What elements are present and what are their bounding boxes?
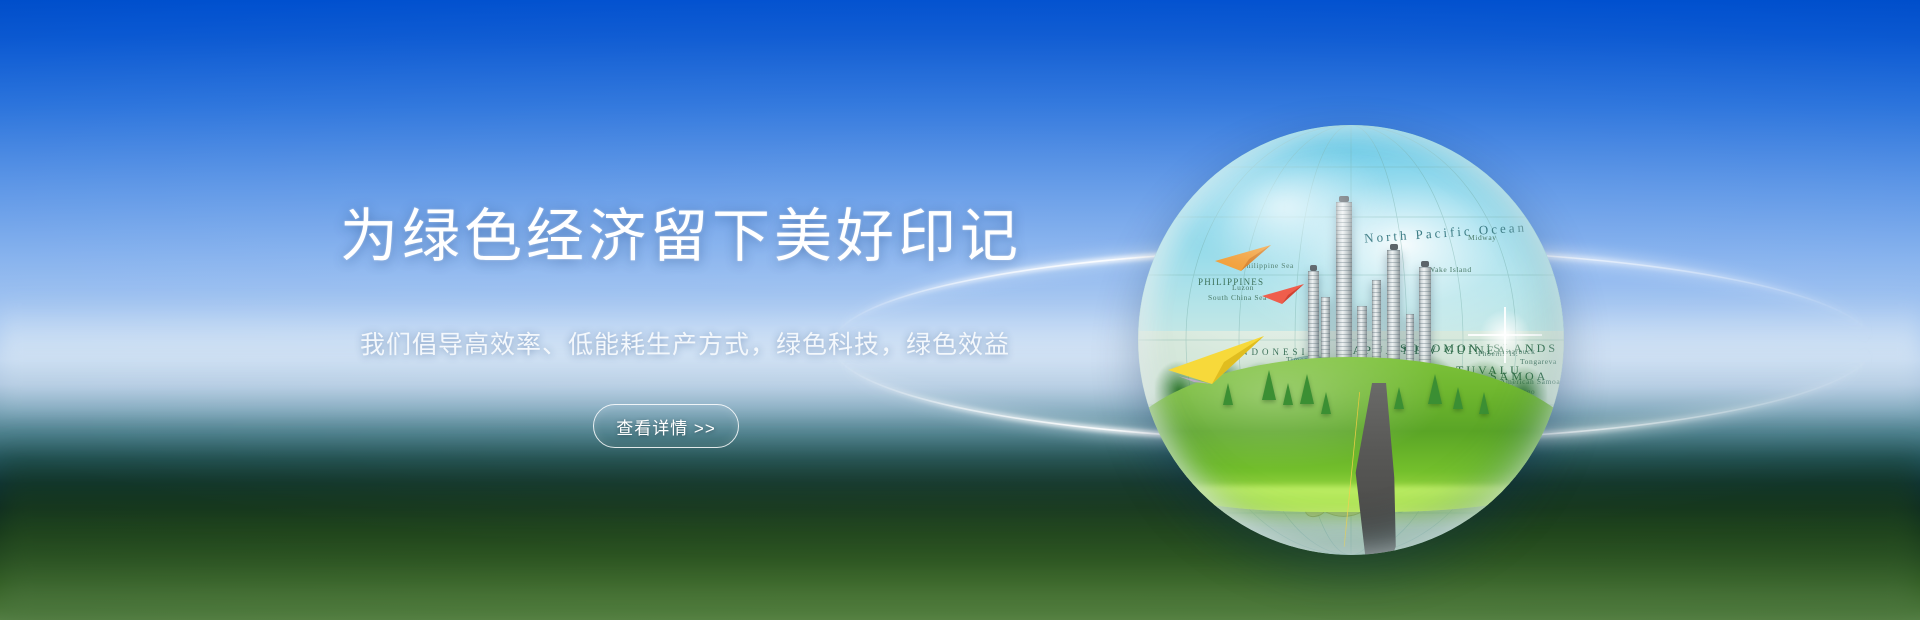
view-details-button-label: 查看详情 >> [616, 414, 716, 439]
page-title: 为绿色经济留下美好印记 [340, 208, 1022, 266]
hero-banner: 为绿色经济留下美好印记 我们倡导高效率、低能耗生产方式，绿色科技，绿色效益 查看… [0, 0, 1920, 620]
page-subtitle: 我们倡导高效率、低能耗生产方式，绿色科技，绿色效益 [360, 330, 1010, 360]
globe-rim-shading [1138, 125, 1564, 555]
glass-globe: North Pacific Ocean AUSTRALIA OCEANIA PA… [1138, 125, 1564, 555]
globe-illustration: North Pacific Ocean AUSTRALIA OCEANIA PA… [1138, 125, 1564, 555]
view-details-button[interactable]: 查看详情 >> [593, 404, 739, 448]
hero-copy-block: 为绿色经济留下美好印记 我们倡导高效率、低能耗生产方式，绿色科技，绿色效益 查看… [0, 0, 1040, 620]
